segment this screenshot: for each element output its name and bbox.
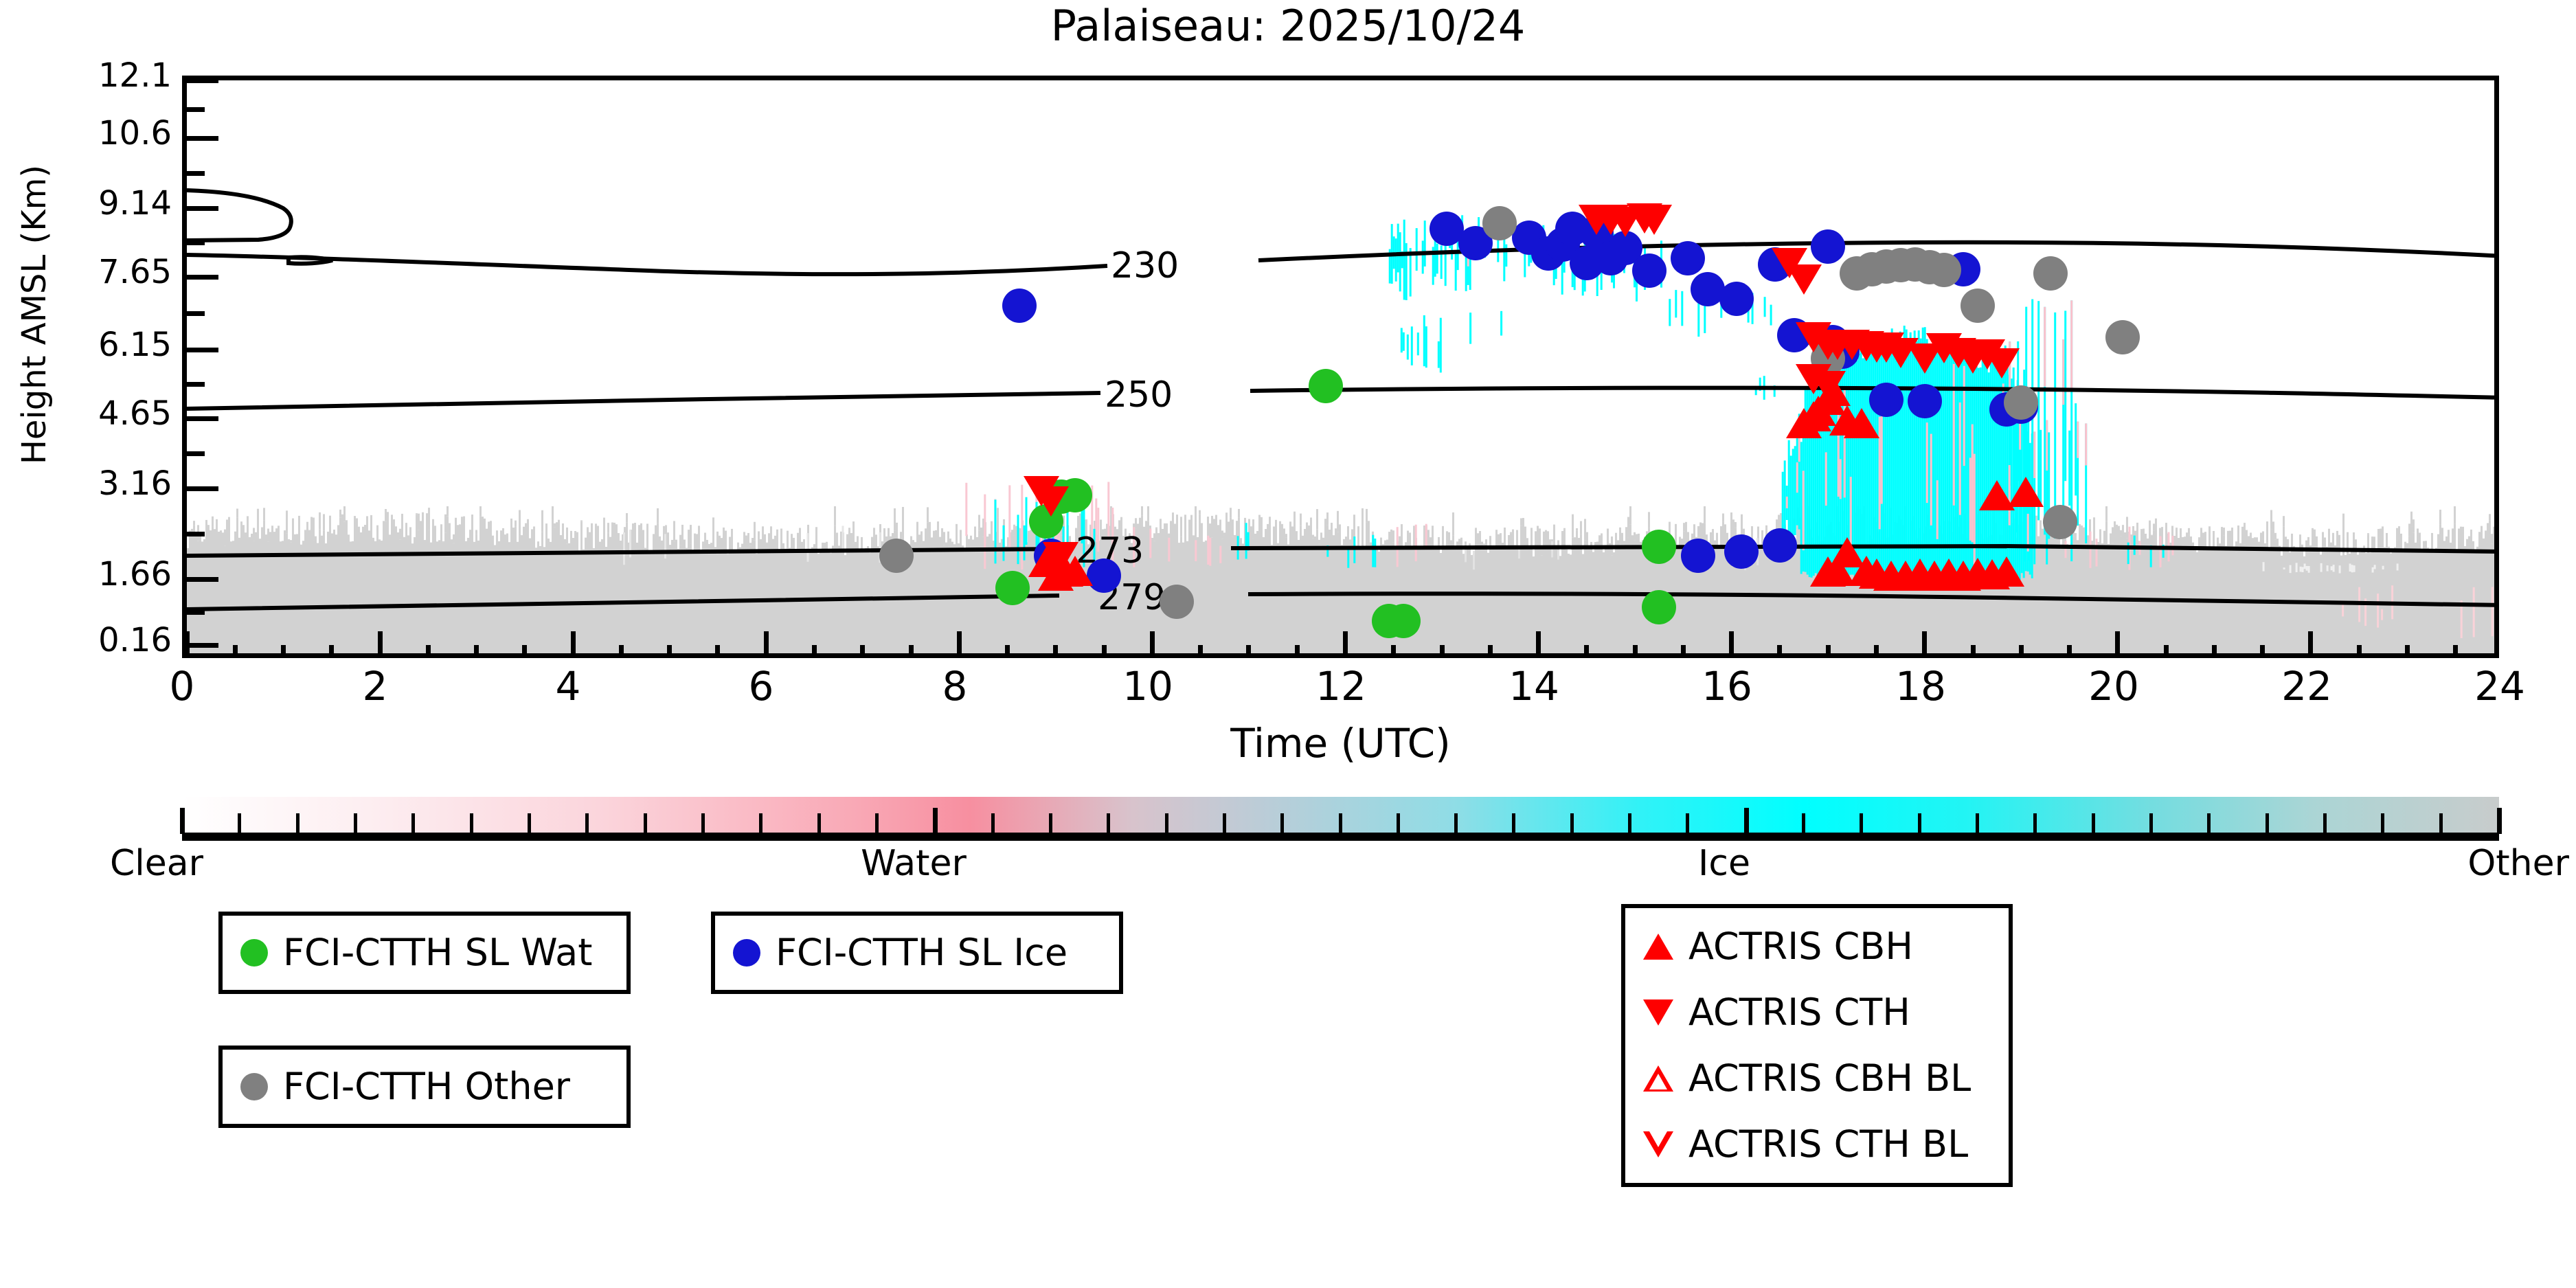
x-tick-minor — [715, 645, 720, 653]
colorbar-tick — [2323, 813, 2327, 834]
colorbar-tick — [2381, 813, 2384, 834]
colorbar-tick — [991, 813, 995, 834]
y-tick-minor — [187, 610, 205, 615]
x-tick-minor — [2357, 645, 2362, 653]
legend-box-other[interactable]: FCI-CTTH Other — [218, 1046, 631, 1128]
x-tick — [2115, 631, 2120, 653]
y-tick-minor — [187, 171, 205, 176]
x-tick — [1150, 631, 1155, 653]
x-tick-minor — [812, 645, 817, 653]
colorbar-tick — [1049, 813, 1052, 834]
triangle-up-hollow-icon — [1643, 1065, 1673, 1092]
x-tick-minor — [1826, 645, 1831, 653]
y-tick — [187, 348, 218, 352]
colorbar-tick — [2266, 813, 2269, 834]
colorbar-tick — [1976, 813, 1979, 834]
legend-label-actris-cbh: ACTRIS CBH — [1688, 927, 1913, 967]
x-tick-minor — [860, 645, 865, 653]
x-tick — [1729, 631, 1734, 653]
legend-label-actris-cth: ACTRIS CTH — [1688, 993, 1910, 1032]
colorbar-tick — [817, 813, 821, 834]
y-tick — [187, 416, 218, 421]
y-tick — [187, 275, 218, 280]
colorbar-tick — [1397, 813, 1400, 834]
legend-box-actris[interactable]: ACTRIS CBH ACTRIS CTH ACTRIS CBH BL ACTR… — [1621, 904, 2013, 1187]
green-circle-icon — [240, 939, 268, 967]
y-tick-label: 7.65 — [14, 256, 172, 289]
x-tick-minor — [2212, 645, 2217, 653]
x-tick-minor — [1874, 645, 1879, 653]
colorbar-tick — [1802, 813, 1805, 834]
colorbar-tick — [2149, 813, 2153, 834]
colorbar-tick — [1686, 813, 1689, 834]
x-tick-minor — [1633, 645, 1638, 653]
x-tick — [378, 631, 383, 653]
colorbar-tick — [1570, 813, 1574, 834]
x-tick-minor — [2067, 645, 2072, 653]
colorbar-tick — [585, 813, 589, 834]
triangle-down-filled-icon — [1643, 999, 1673, 1026]
y-tick-minor — [187, 107, 205, 112]
y-tick — [187, 643, 218, 648]
y-tick-minor — [187, 532, 205, 536]
colorbar-label-water: Water — [776, 844, 1051, 883]
x-tick-label: 22 — [2252, 665, 2362, 708]
y-tick — [187, 486, 218, 491]
x-tick-label: 8 — [900, 665, 1010, 708]
legend-label-sl-ice: FCI-CTTH SL Ice — [776, 933, 1067, 973]
colorbar-tick — [2497, 808, 2502, 834]
colorbar-tick — [1454, 813, 1458, 834]
y-tick-label: 0.16 — [14, 624, 172, 657]
x-tick-minor — [1198, 645, 1203, 653]
x-tick — [571, 631, 576, 653]
x-tick — [764, 631, 769, 653]
colorbar-tick — [1107, 813, 1110, 834]
x-tick — [187, 631, 190, 653]
x-tick-minor — [1391, 645, 1396, 653]
legend-box-sl-wat[interactable]: FCI-CTTH SL Wat — [218, 912, 631, 994]
x-tick-minor — [2453, 645, 2458, 653]
triangle-down-hollow-icon — [1643, 1131, 1673, 1157]
y-tick-minor — [187, 451, 205, 456]
gray-circle-icon — [240, 1073, 268, 1100]
x-tick-minor — [909, 645, 914, 653]
colorbar-tick — [528, 813, 531, 834]
colorbar-tick — [354, 813, 357, 834]
y-tick-minor — [187, 382, 205, 387]
y-tick — [187, 577, 218, 582]
y-tick-minor — [187, 240, 205, 245]
x-tick-minor — [619, 645, 624, 653]
x-tick-label: 10 — [1093, 665, 1203, 708]
colorbar-tick — [1165, 813, 1168, 834]
plot-area[interactable]: 230 250 273 279 — [182, 76, 2499, 658]
y-tick-label: 1.66 — [14, 558, 172, 591]
x-tick-minor — [2019, 645, 2024, 653]
x-tick-minor — [522, 645, 527, 653]
y-tick-label: 4.65 — [14, 397, 172, 430]
x-tick-label: 2 — [320, 665, 430, 708]
colorbar-tick — [644, 813, 647, 834]
y-tick-label: 6.15 — [14, 328, 172, 361]
x-tick-minor — [1246, 645, 1251, 653]
colorbar-tick — [1628, 813, 1631, 834]
x-tick — [2308, 631, 2313, 653]
x-tick-minor — [2164, 645, 2169, 653]
colorbar-label-other: Other — [2281, 844, 2569, 883]
x-tick-minor — [281, 645, 286, 653]
x-tick-minor — [1005, 645, 1010, 653]
colorbar-tick — [1860, 813, 1863, 834]
x-tick-minor — [1488, 645, 1493, 653]
triangle-up-filled-icon — [1643, 934, 1673, 960]
colorbar-tick — [1280, 813, 1284, 834]
colorbar-label-clear: Clear — [110, 844, 385, 883]
colorbar-tick — [411, 813, 415, 834]
x-tick-minor — [474, 645, 479, 653]
x-tick-minor — [2405, 645, 2410, 653]
colorbar-tick — [238, 813, 241, 834]
x-tick-minor — [233, 645, 238, 653]
y-tick — [187, 206, 218, 211]
axis-ticks-layer — [187, 80, 2494, 653]
page-title: Palaiseau: 2025/10/24 — [0, 1, 2576, 51]
colorbar-tick — [933, 808, 938, 834]
x-tick-minor — [1681, 645, 1686, 653]
x-tick-label: 16 — [1672, 665, 1782, 708]
colorbar-tick — [2207, 813, 2211, 834]
x-tick-minor — [1971, 645, 1976, 653]
colorbar-tick — [1918, 813, 1921, 834]
blue-circle-icon — [733, 939, 760, 967]
x-tick-minor — [329, 645, 334, 653]
x-tick-minor — [2260, 645, 2265, 653]
x-tick-label: 4 — [513, 665, 623, 708]
colorbar-tick — [875, 813, 879, 834]
colorbar-tick — [296, 813, 300, 834]
legend-label-actris-cth-bl: ACTRIS CTH BL — [1688, 1125, 1968, 1164]
x-tick-label: 14 — [1479, 665, 1589, 708]
x-tick — [1536, 631, 1541, 653]
x-tick-minor — [1295, 645, 1300, 653]
x-tick-label: 6 — [706, 665, 816, 708]
x-tick-minor — [426, 645, 431, 653]
colorbar-tick — [1512, 813, 1515, 834]
legend-label-sl-wat: FCI-CTTH SL Wat — [283, 933, 592, 973]
x-tick-minor — [1440, 645, 1445, 653]
x-tick-label: 20 — [2059, 665, 2169, 708]
y-tick — [187, 136, 218, 141]
y-tick-label: 9.14 — [14, 187, 172, 220]
colorbar-tick — [759, 813, 762, 834]
x-tick-minor — [1102, 645, 1107, 653]
legend-label-other: FCI-CTTH Other — [283, 1067, 570, 1107]
x-tick-label: 12 — [1286, 665, 1396, 708]
x-tick-minor — [667, 645, 672, 653]
legend-box-sl-ice[interactable]: FCI-CTTH SL Ice — [711, 912, 1123, 994]
x-axis-label: Time (UTC) — [182, 720, 2499, 767]
x-tick — [957, 631, 962, 653]
colorbar-tick — [2033, 813, 2037, 834]
x-tick — [1343, 631, 1348, 653]
colorbar-tick — [701, 813, 705, 834]
colorbar-tick — [470, 813, 473, 834]
colorbar-tick — [1744, 808, 1749, 834]
legend-label-actris-cbh-bl: ACTRIS CBH BL — [1688, 1059, 1971, 1098]
colorbar-tick — [1223, 813, 1226, 834]
x-tick-label: 24 — [2445, 665, 2555, 708]
y-tick — [187, 80, 218, 83]
x-tick-minor — [1053, 645, 1058, 653]
x-tick-minor — [1584, 645, 1589, 653]
x-tick-minor — [1777, 645, 1782, 653]
y-tick-label: 3.16 — [14, 467, 172, 500]
y-tick-minor — [187, 311, 205, 316]
colorbar-tick — [180, 808, 185, 834]
colorbar-tick — [2439, 813, 2443, 834]
colorbar-tick — [2092, 813, 2095, 834]
x-tick-label: 0 — [127, 665, 237, 708]
colorbar-tick — [1339, 813, 1342, 834]
y-tick-label: 10.6 — [14, 117, 172, 150]
x-tick-label: 18 — [1866, 665, 1976, 708]
x-tick — [1922, 631, 1927, 653]
y-tick-label: 12.1 — [14, 59, 172, 92]
colorbar-label-ice: Ice — [1587, 844, 1862, 883]
